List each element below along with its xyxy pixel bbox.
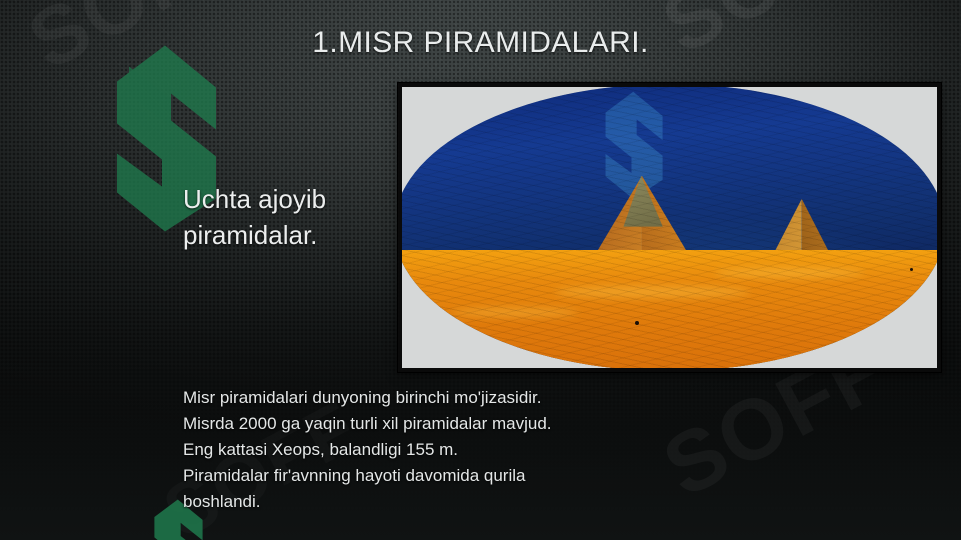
pyramids-image-canvas — [402, 87, 937, 368]
body-line-4: Piramidalar fir'avnning hayoti davomida … — [183, 463, 783, 489]
body-line-3: Eng kattasi Xeops, balandligi 155 m. — [183, 437, 783, 463]
body-text-block: Misr piramidalari dunyoning birinchi mo'… — [183, 385, 783, 515]
pyramids-image-frame — [398, 83, 941, 372]
presentation-slide: SOFF SOFF SOFF SOFF 1.MISR PIRAMIDALARI.… — [0, 0, 961, 540]
body-line-1: Misr piramidalari dunyoning birinchi mo'… — [183, 385, 783, 411]
left-caption-text: Uchta ajoyib piramidalar. — [183, 182, 393, 254]
body-line-2: Misrda 2000 ga yaqin turli xil piramidal… — [183, 411, 783, 437]
page-title: 1.MISR PIRAMIDALARI. — [0, 26, 961, 60]
pyramids-photo-oval — [402, 87, 937, 368]
body-line-5: boshlandi. — [183, 489, 783, 515]
photo-sand — [402, 250, 937, 368]
